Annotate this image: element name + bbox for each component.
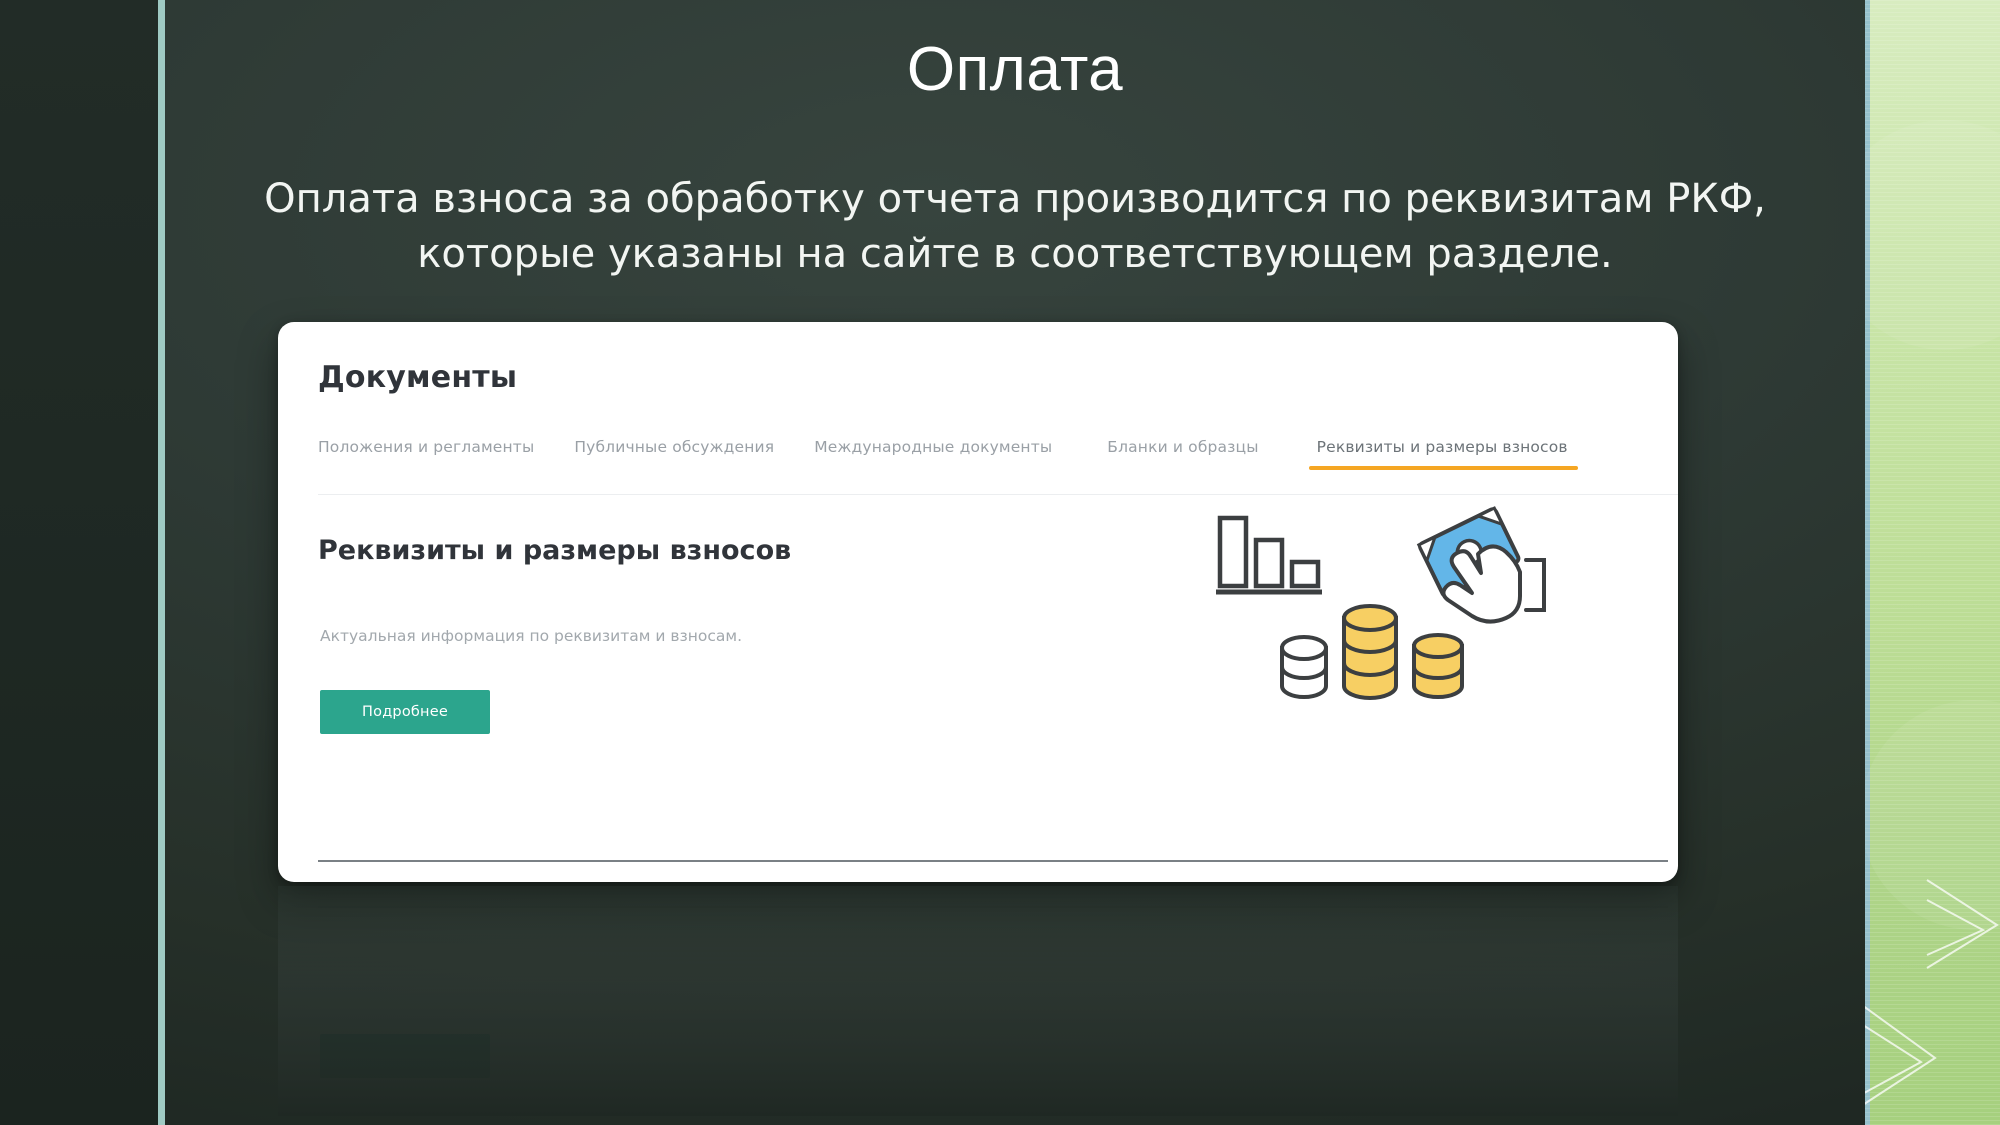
details-button[interactable]: Подробнее [320, 690, 490, 734]
tab-label: Реквизиты и размеры взносов [1317, 438, 1568, 456]
coin-stack-short-icon [1414, 635, 1462, 697]
right-green-strip [1865, 0, 2000, 1125]
website-screenshot-card: Документы Положения и регламенты Публичн… [278, 322, 1678, 882]
section-title: Реквизиты и размеры взносов [318, 535, 791, 566]
finance-illustration [1210, 500, 1570, 710]
left-band [0, 0, 158, 1125]
card-surface: Документы Положения и регламенты Публичн… [278, 322, 1678, 882]
tab-publichnye-obsuzhdeniya[interactable]: Публичные обсуждения [574, 438, 774, 470]
chevron-decoration-icon [1865, 0, 2000, 1125]
page-title: Оплата [165, 34, 1865, 105]
active-tab-underline [1309, 466, 1578, 470]
tab-mezhdunarodnye-dokumenty[interactable]: Международные документы [814, 438, 1052, 470]
section-description: Актуальная информация по реквизитам и вз… [320, 627, 742, 645]
coin-stack-empty-icon [1282, 637, 1326, 697]
tab-label: Бланки и образцы [1107, 438, 1258, 456]
bar-chart-icon [1216, 518, 1322, 592]
tab-label: Положения и регламенты [318, 438, 534, 456]
subtitle-line-2: которые указаны на сайте в соответствующ… [165, 227, 1865, 282]
card-bottom-divider [318, 860, 1668, 862]
subtitle-line-1: Оплата взноса за обработку отчета произв… [165, 172, 1865, 227]
tab-rekvizity-i-razmery-vznosov[interactable]: Реквизиты и размеры взносов [1317, 438, 1568, 470]
tab-label: Публичные обсуждения [574, 438, 774, 456]
documents-tab-bar[interactable]: Положения и регламенты Публичные обсужде… [318, 438, 1678, 494]
slide-subtitle: Оплата взноса за обработку отчета произв… [165, 172, 1865, 282]
site-page-heading: Документы [318, 360, 517, 395]
tab-bar-baseline [318, 494, 1678, 495]
tab-blanki-i-obraztsy[interactable]: Бланки и образцы [1107, 438, 1258, 470]
coin-stack-tall-icon [1344, 606, 1396, 698]
presentation-slide: Оплата Оплата взноса за обработку отчета… [0, 0, 2000, 1125]
left-accent-line [158, 0, 165, 1125]
hand-holding-banknote-icon [1419, 508, 1544, 621]
tab-label: Международные документы [814, 438, 1052, 456]
tab-polozheniya-i-reglamenty[interactable]: Положения и регламенты [318, 438, 534, 470]
